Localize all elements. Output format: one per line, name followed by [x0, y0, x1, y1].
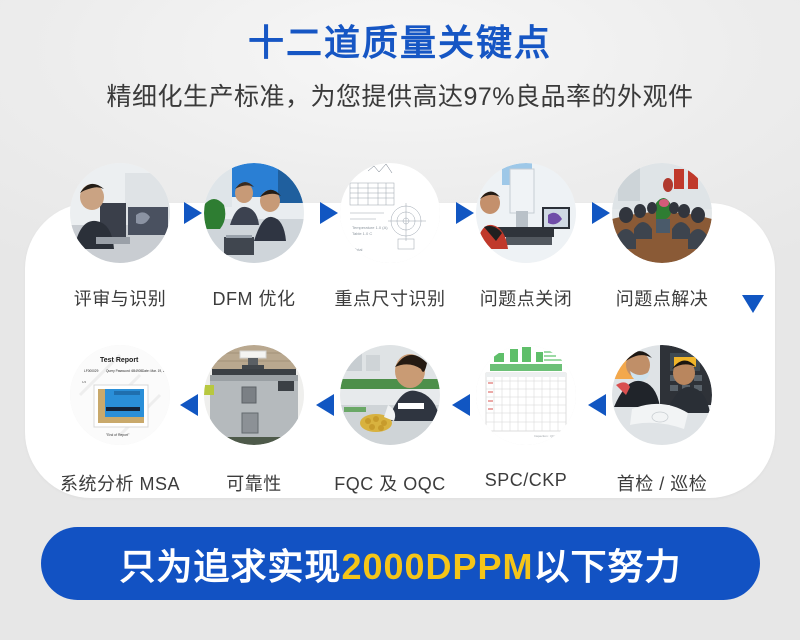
page-subtitle: 精细化生产标准，为您提供高达97%良品率的外观件 — [0, 77, 800, 113]
banner-text-after: 以下努力 — [534, 546, 682, 587]
svg-text:Date: Mar. 19, 2019: Date: Mar. 19, 2019 — [142, 369, 170, 373]
flow-step-8[interactable]: FQC 及 OQC — [324, 342, 456, 496]
goal-banner[interactable]: 只为追求实现2000DPPM以下努力 — [41, 527, 760, 600]
svg-text:Table 1.0 C: Table 1.0 C — [352, 231, 372, 236]
flow-step-label: 系统分析 MSA — [54, 470, 186, 496]
svg-text:"End of Report": "End of Report" — [106, 433, 130, 437]
flow-step-10[interactable]: 首检 / 巡检 — [596, 342, 728, 496]
flow-step-label: 首检 / 巡检 — [596, 470, 728, 496]
flow-step-label: 重点尺寸识别 — [324, 285, 456, 311]
flow-row-2: Test Report LF000029Query Password: 6B49… — [0, 342, 800, 492]
flow-step-label: SPC/CKP — [460, 470, 592, 491]
page-title: 十二道质量关键点 — [0, 22, 800, 63]
flow-step-label: DFM 优化 — [188, 285, 320, 311]
engineers-at-desk-photo — [204, 163, 304, 263]
meeting-room-photo — [612, 163, 712, 263]
svg-text:Temperature 1.0 (A): Temperature 1.0 (A) — [352, 225, 388, 230]
goal-banner-text: 只为追求实现2000DPPM以下努力 — [119, 538, 681, 590]
flow-step-4[interactable]: 问题点关闭 — [460, 160, 592, 311]
engineering-drawing-photo: Temperature 1.0 (A) Table 1.0 C Total — [340, 163, 440, 263]
flow-step-1[interactable]: 评审与识别 — [54, 160, 186, 311]
banner-highlight: 2000DPPM — [341, 546, 533, 587]
flow-step-label: 问题点关闭 — [460, 285, 592, 311]
svg-text:Inspection : QC: Inspection : QC — [534, 434, 556, 438]
flow-step-label: 评审与识别 — [54, 285, 186, 311]
flow-row-1: 评审与识别 — [0, 160, 800, 310]
flow-step-5[interactable]: 问题点解决 — [596, 160, 728, 311]
test-report-document-photo: Test Report LF000029Query Password: 6B49… — [70, 345, 170, 445]
flow-step-6[interactable]: Test Report LF000029Query Password: 6B49… — [54, 342, 186, 496]
flow-step-7[interactable]: 可靠性 — [188, 342, 320, 496]
flow-step-9[interactable]: Inspection : QC SPC/CKP — [460, 342, 592, 491]
spc-control-chart-photo: Inspection : QC — [476, 345, 576, 445]
svg-text:Query Password: 6B4905: Query Password: 6B4905 — [106, 369, 143, 373]
svg-text:Test Report: Test Report — [100, 357, 139, 364]
first-article-inspection-photo — [612, 345, 712, 445]
measuring-machine-operator-photo — [476, 163, 576, 263]
svg-text:LF000029: LF000029 — [84, 369, 99, 373]
banner-text-before: 只为追求实现 — [119, 546, 341, 587]
infographic-page: 十二道质量关键点 精细化生产标准，为您提供高达97%良品率的外观件 — [0, 0, 800, 640]
svg-text:1/2: 1/2 — [82, 380, 87, 384]
arrow-down-icon — [742, 295, 764, 313]
svg-text:Total: Total — [354, 247, 363, 252]
page-header: 十二道质量关键点 精细化生产标准，为您提供高达97%良品率的外观件 — [0, 22, 800, 113]
flow-step-label: 问题点解决 — [596, 285, 728, 311]
flow-step-2[interactable]: DFM 优化 — [188, 160, 320, 311]
office-worker-at-computer-photo — [70, 163, 170, 263]
flow-step-label: 可靠性 — [188, 470, 320, 496]
flow-step-label: FQC 及 OQC — [324, 470, 456, 496]
reliability-test-chamber-photo — [204, 345, 304, 445]
flow-step-3[interactable]: Temperature 1.0 (A) Table 1.0 C Total 重点… — [324, 160, 456, 311]
inspection-worker-photo — [340, 345, 440, 445]
